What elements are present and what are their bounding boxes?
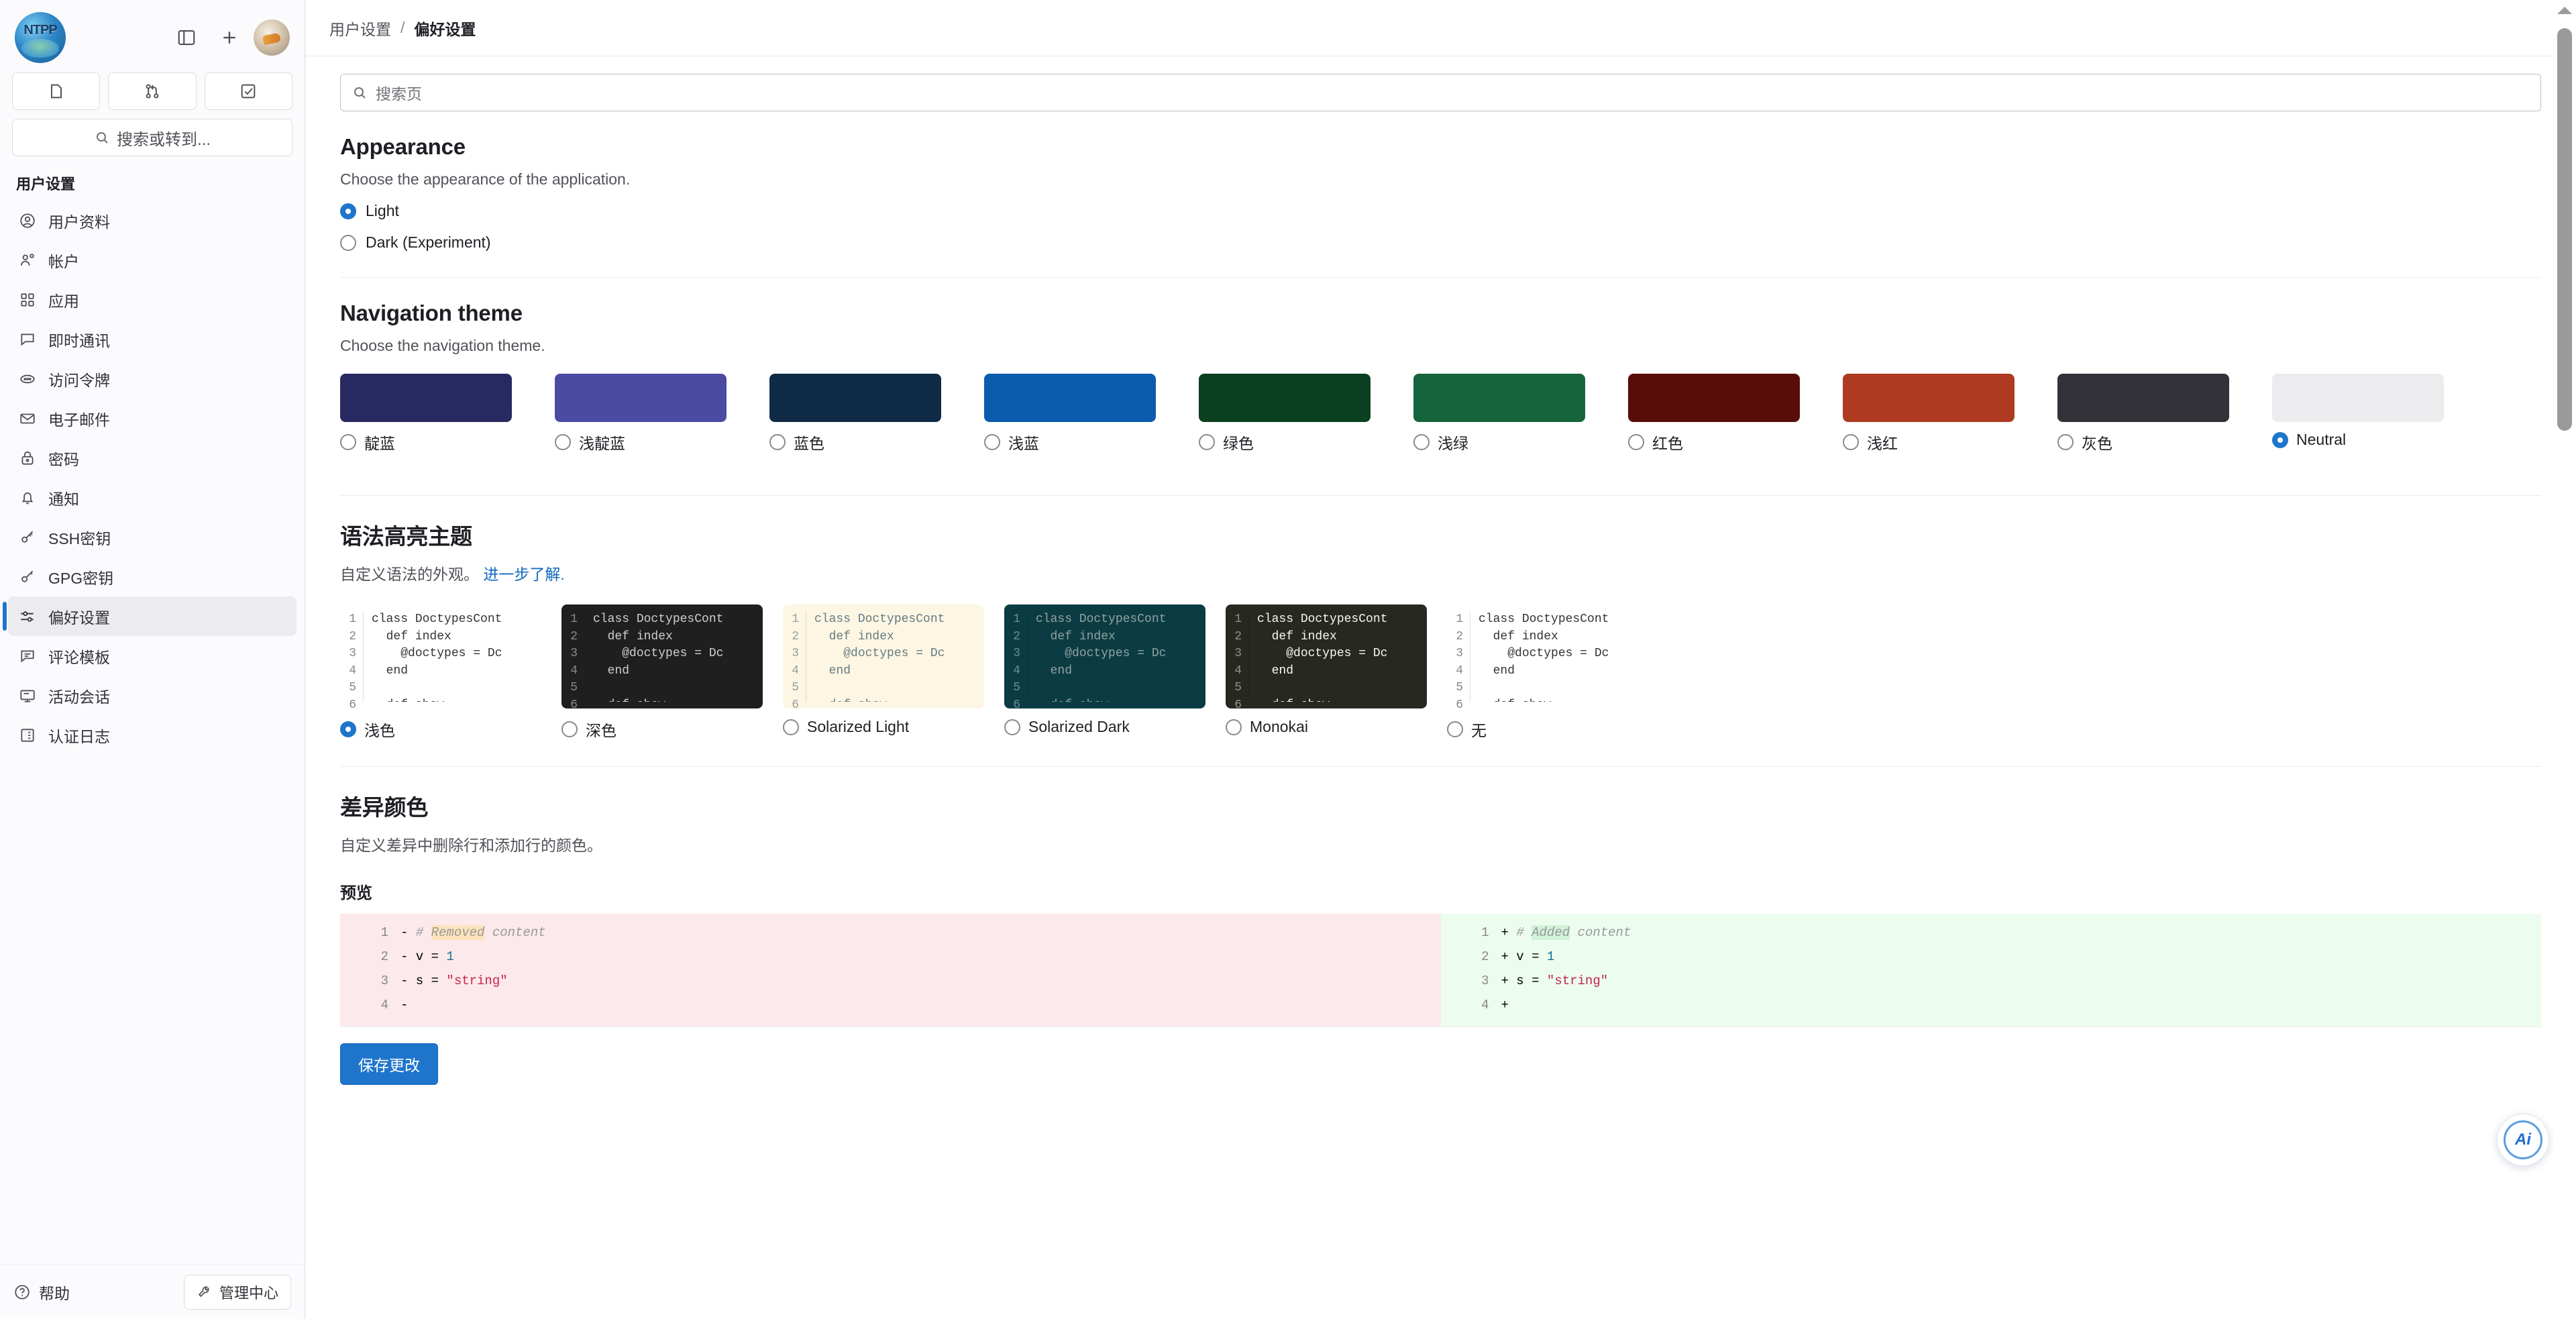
sidebar-item-label: 用户资料 [48, 209, 110, 232]
diff-line-text: - [400, 993, 416, 1017]
theme-color-swatch[interactable] [2057, 374, 2229, 422]
diff-line: 2- v = 1 [340, 945, 1441, 969]
radio-indicator [1226, 719, 1242, 735]
diff-line-text: + s = "string" [1501, 969, 1609, 993]
navigation-theme-grid: 靛蓝浅靛蓝蓝色浅蓝绿色浅绿红色浅红灰色Neutral [340, 374, 2541, 470]
theme-color-swatch[interactable] [555, 374, 727, 422]
syntax-option-label-row[interactable]: 无 [1447, 718, 1668, 741]
diff-line-number: 4 [1441, 993, 1501, 1017]
theme-option-label-row[interactable]: 靛蓝 [340, 431, 512, 454]
code-line-numbers: 123456 [1004, 611, 1027, 702]
diff-line-number: 4 [340, 993, 400, 1017]
key-icon [17, 527, 38, 547]
diff-line: 2+ v = 1 [1441, 945, 2542, 969]
appearance-option-label: Light [366, 202, 399, 220]
diff-line: 1- # Removed content [340, 920, 1441, 945]
radio-indicator [1628, 434, 1644, 450]
syntax-option-label: 浅色 [364, 718, 395, 741]
navigation-theme-option[interactable]: 红色 [1628, 374, 1800, 454]
ai-icon: Ai [2504, 1120, 2542, 1159]
vertical-scrollbar[interactable] [2553, 0, 2576, 1319]
navigation-theme-title: Navigation theme [340, 301, 2541, 326]
sidebar-header [0, 0, 305, 68]
navigation-theme-option[interactable]: Neutral [2272, 374, 2444, 454]
sidebar-item-emails[interactable]: 电子邮件 [8, 399, 297, 438]
syntax-theme-title: 语法高亮主题 [340, 519, 2541, 551]
theme-color-swatch[interactable] [984, 374, 1156, 422]
profile-icon [17, 211, 38, 231]
sidebar-item-ssh-keys[interactable]: SSH密钥 [8, 517, 297, 557]
radio-indicator [2057, 434, 2074, 450]
radio-indicator [1413, 434, 1430, 450]
diff-line-number: 3 [1441, 969, 1501, 993]
theme-option-label: 灰色 [2082, 431, 2112, 454]
diff-colors-description: 自定义差异中删除行和添加行的颜色。 [340, 833, 2541, 855]
code-line-numbers: 123456 [1226, 611, 1248, 702]
search-page-placeholder: 搜索页 [376, 81, 422, 104]
diff-line: 3- s = "string" [340, 969, 1441, 993]
sidebar-item-label: 活动会话 [48, 684, 110, 707]
search-icon [352, 85, 368, 101]
sidebar-quick-buttons [0, 68, 305, 110]
help-button[interactable]: 帮助 [13, 1281, 70, 1304]
sidebar-nav: 用户资料 帐户 应用 即 [0, 201, 305, 1265]
create-new-icon[interactable] [211, 19, 248, 56]
sidebar-section-title: 用户设置 [0, 156, 305, 201]
diff-line-number: 2 [340, 945, 400, 969]
syntax-option-label: Monokai [1250, 718, 1308, 736]
syntax-theme-section: 语法高亮主题 自定义语法的外观。 进一步了解. 123456class Doct… [340, 496, 2541, 767]
sidebar-item-label: 即时通讯 [48, 328, 110, 351]
theme-option-label-row[interactable]: 灰色 [2057, 431, 2229, 454]
diff-removed-pane: 1- # Removed content2- v = 13- s = "stri… [340, 914, 1441, 1026]
breadcrumb: 用户设置 / 偏好设置 [305, 0, 2576, 56]
scrollbar-thumb[interactable] [2557, 28, 2572, 431]
theme-option-label-row[interactable]: 绿色 [1199, 431, 1371, 454]
theme-option-label-row[interactable]: 浅蓝 [984, 431, 1156, 454]
navigation-theme-option[interactable]: 靛蓝 [340, 374, 512, 454]
syntax-theme-learn-more-link[interactable]: 进一步了解. [483, 566, 564, 583]
radio-indicator [340, 434, 356, 450]
radio-indicator [340, 235, 356, 251]
code-lines: class DoctypesCont def index @doctypes =… [1248, 611, 1427, 702]
code-line-numbers: 123456 [783, 611, 806, 702]
search-icon [94, 129, 110, 146]
code-lines: class DoctypesCont def index @doctypes =… [1470, 611, 1648, 702]
wrench-icon [197, 1284, 213, 1300]
appearance-title: Appearance [340, 134, 2541, 160]
user-avatar[interactable] [254, 19, 290, 56]
syntax-theme-option[interactable]: 123456class DoctypesCont def index @doct… [561, 604, 783, 741]
syntax-option-label-row[interactable]: 深色 [561, 718, 783, 741]
admin-area-label: 管理中心 [219, 1281, 278, 1303]
navigation-theme-option[interactable]: 绿色 [1199, 374, 1371, 454]
theme-color-swatch[interactable] [1843, 374, 2015, 422]
syntax-option-label-row[interactable]: Solarized Dark [1004, 718, 1226, 736]
account-icon [17, 250, 38, 270]
diff-line-text: - s = "string" [400, 969, 508, 993]
applications-icon [17, 290, 38, 310]
code-lines: class DoctypesCont def index @doctypes =… [363, 611, 541, 702]
syntax-theme-grid: 123456class DoctypesCont def index @doct… [340, 604, 2541, 741]
sidebar-item-label: 电子邮件 [48, 407, 110, 430]
radio-indicator [1004, 719, 1020, 735]
settings-content: 搜索页 Appearance Choose the appearance of … [305, 56, 2576, 1085]
syntax-theme-description: 自定义语法的外观。 进一步了解. [340, 562, 2541, 584]
key-icon [17, 567, 38, 587]
sidebar-footer: 帮助 管理中心 [0, 1265, 305, 1319]
code-line-numbers: 123456 [1447, 611, 1470, 702]
sidebar-item-label: 评论模板 [48, 645, 110, 668]
navigation-theme-section: Navigation theme Choose the navigation t… [340, 278, 2541, 496]
syntax-theme-option[interactable]: 123456class DoctypesCont def index @doct… [340, 604, 561, 741]
syntax-theme-option[interactable]: 123456class DoctypesCont def index @doct… [1226, 604, 1447, 741]
radio-indicator [783, 719, 799, 735]
theme-option-label-row[interactable]: Neutral [2272, 431, 2444, 449]
diff-line: 4- [340, 993, 1441, 1017]
syntax-theme-option[interactable]: 123456class DoctypesCont def index @doct… [1447, 604, 1668, 741]
diff-colors-section: 差异颜色 自定义差异中删除行和添加行的颜色。 预览 1- # Removed c… [340, 767, 2541, 1085]
diff-line: 4+ [1441, 993, 2542, 1017]
theme-color-swatch[interactable] [1199, 374, 1371, 422]
radio-indicator [984, 434, 1000, 450]
diff-line-number: 1 [340, 920, 400, 945]
code-lines: class DoctypesCont def index @doctypes =… [1027, 611, 1205, 702]
diff-line: 3+ s = "string" [1441, 969, 2542, 993]
scroll-up-arrow-icon[interactable] [2557, 7, 2572, 14]
radio-indicator [769, 434, 786, 450]
theme-option-label-row[interactable]: 浅红 [1843, 431, 2015, 454]
syntax-theme-option[interactable]: 123456class DoctypesCont def index @doct… [1004, 604, 1226, 741]
organization-logo-icon[interactable] [15, 12, 66, 63]
sidebar-item-authentication-log[interactable]: 认证日志 [8, 715, 297, 755]
search-or-goto-placeholder: 搜索或转到... [117, 126, 211, 150]
appearance-option-label: Dark (Experiment) [366, 233, 491, 252]
radio-indicator [1843, 434, 1859, 450]
code-line-numbers: 123456 [561, 611, 584, 702]
navigation-theme-option[interactable]: 蓝色 [769, 374, 941, 454]
help-icon [13, 1283, 31, 1301]
sidebar-item-label: 访问令牌 [48, 368, 110, 390]
sidebar-item-label: 偏好设置 [48, 605, 110, 628]
navigation-theme-description: Choose the navigation theme. [340, 337, 2541, 355]
code-line-numbers: 123456 [340, 611, 363, 702]
diff-line-number: 2 [1441, 945, 1501, 969]
appearance-option-dark[interactable]: Dark (Experiment) [340, 233, 2541, 252]
radio-indicator [340, 203, 356, 219]
theme-option-label: 红色 [1652, 431, 1683, 454]
theme-option-label: Neutral [2296, 431, 2346, 449]
theme-option-label: 浅绿 [1438, 431, 1468, 454]
lock-icon [17, 448, 38, 468]
code-preview: 123456class DoctypesCont def index @doct… [1226, 604, 1427, 708]
theme-option-label: 浅蓝 [1008, 431, 1039, 454]
sidebar: 搜索或转到... 用户设置 用户资料 帐户 [0, 0, 305, 1319]
syntax-option-label: Solarized Dark [1028, 718, 1130, 736]
appearance-description: Choose the appearance of the application… [340, 170, 2541, 189]
sidebar-item-preferences[interactable]: 偏好设置 [8, 596, 297, 636]
sidebar-item-access-tokens[interactable]: 访问令牌 [8, 359, 297, 399]
theme-option-label-row[interactable]: 蓝色 [769, 431, 941, 454]
code-lines: class DoctypesCont def index @doctypes =… [806, 611, 984, 702]
preferences-icon [17, 606, 38, 627]
theme-option-label: 靛蓝 [364, 431, 395, 454]
monitor-icon [17, 686, 38, 706]
diff-line-number: 1 [1441, 920, 1501, 945]
theme-option-label: 浅靛蓝 [579, 431, 625, 454]
sidebar-item-profile[interactable]: 用户资料 [8, 201, 297, 240]
radio-indicator [340, 721, 356, 737]
merge-requests-icon[interactable] [108, 72, 196, 110]
sidebar-item-label: 认证日志 [48, 724, 110, 747]
theme-option-label: 浅红 [1867, 431, 1898, 454]
sidebar-item-active-sessions[interactable]: 活动会话 [8, 676, 297, 715]
diff-line-text: - # Removed content [400, 920, 546, 945]
breadcrumb-current: 偏好设置 [414, 17, 476, 40]
ai-assistant-button[interactable]: Ai [2497, 1114, 2549, 1166]
diff-line-text: + [1501, 993, 1517, 1017]
theme-color-swatch[interactable] [769, 374, 941, 422]
help-label: 帮助 [39, 1281, 70, 1304]
sidebar-item-label: 应用 [48, 288, 79, 311]
theme-option-label-row[interactable]: 浅靛蓝 [555, 431, 727, 454]
navigation-theme-option[interactable]: 灰色 [2057, 374, 2229, 454]
breadcrumb-separator: / [400, 19, 405, 37]
sidebar-item-label: 通知 [48, 486, 79, 509]
theme-option-label: 绿色 [1223, 431, 1254, 454]
code-preview: 123456class DoctypesCont def index @doct… [561, 604, 763, 708]
sidebar-item-label: SSH密钥 [48, 526, 111, 549]
save-changes-button[interactable]: 保存更改 [340, 1043, 438, 1085]
search-or-goto-input[interactable]: 搜索或转到... [12, 119, 292, 156]
token-icon [17, 369, 38, 389]
theme-option-label-row[interactable]: 浅绿 [1413, 431, 1585, 454]
log-icon [17, 725, 38, 745]
chat-icon [17, 329, 38, 350]
admin-area-button[interactable]: 管理中心 [184, 1275, 291, 1310]
theme-color-swatch[interactable] [1413, 374, 1585, 422]
diff-colors-title: 差异颜色 [340, 790, 2541, 822]
code-preview: 123456class DoctypesCont def index @doct… [1447, 604, 1648, 708]
sidebar-item-chat[interactable]: 即时通讯 [8, 319, 297, 359]
sidebar-item-label: 帐户 [48, 249, 79, 272]
sidebar-item-applications[interactable]: 应用 [8, 280, 297, 319]
sidebar-item-password[interactable]: 密码 [8, 438, 297, 478]
theme-color-swatch[interactable] [340, 374, 512, 422]
navigation-theme-option[interactable]: 浅绿 [1413, 374, 1585, 454]
breadcrumb-parent[interactable]: 用户设置 [329, 17, 391, 40]
syntax-option-label-row[interactable]: 浅色 [340, 718, 561, 741]
code-preview: 123456class DoctypesCont def index @doct… [340, 604, 541, 708]
sidebar-item-notifications[interactable]: 通知 [8, 478, 297, 517]
syntax-option-label: 无 [1471, 718, 1487, 741]
syntax-theme-option[interactable]: 123456class DoctypesCont def index @doct… [783, 604, 1004, 741]
issues-icon[interactable] [12, 72, 100, 110]
search-page-input[interactable]: 搜索页 [340, 74, 2541, 111]
navigation-theme-option[interactable]: 浅靛蓝 [555, 374, 727, 454]
appearance-section: Appearance Choose the appearance of the … [340, 111, 2541, 278]
theme-color-swatch[interactable] [2272, 374, 2444, 422]
navigation-theme-option[interactable]: 浅蓝 [984, 374, 1156, 454]
main-content: 用户设置 / 偏好设置 搜索页 Appearance Choose the ap… [305, 0, 2576, 1319]
appearance-option-light[interactable]: Light [340, 202, 2541, 220]
code-preview: 123456class DoctypesCont def index @doct… [783, 604, 984, 708]
sidebar-item-label: 密码 [48, 447, 79, 470]
sidebar-top-actions [168, 19, 290, 56]
toggle-sidebar-icon[interactable] [168, 19, 205, 56]
navigation-theme-option[interactable]: 浅红 [1843, 374, 2015, 454]
diff-line: 1+ # Added content [1441, 920, 2542, 945]
theme-option-label: 蓝色 [794, 431, 824, 454]
syntax-option-label: Solarized Light [807, 718, 909, 736]
code-preview: 123456class DoctypesCont def index @doct… [1004, 604, 1205, 708]
diff-line-text: - v = 1 [400, 945, 454, 969]
comment-icon [17, 646, 38, 666]
radio-indicator [1199, 434, 1215, 450]
syntax-option-label: 深色 [586, 718, 616, 741]
sidebar-item-label: GPG密钥 [48, 566, 113, 588]
diff-preview-label: 预览 [340, 880, 2541, 903]
syntax-theme-desc-text: 自定义语法的外观。 [340, 566, 479, 583]
sidebar-item-account[interactable]: 帐户 [8, 240, 297, 280]
radio-indicator [2272, 432, 2288, 448]
diff-line-text: + # Added content [1501, 920, 1631, 945]
bell-icon [17, 488, 38, 508]
code-lines: class DoctypesCont def index @doctypes =… [584, 611, 763, 702]
sidebar-item-comment-templates[interactable]: 评论模板 [8, 636, 297, 676]
radio-indicator [555, 434, 571, 450]
sidebar-item-gpg-keys[interactable]: GPG密钥 [8, 557, 297, 596]
diff-line-number: 3 [340, 969, 400, 993]
diff-added-pane: 1+ # Added content2+ v = 13+ s = "string… [1441, 914, 2542, 1026]
radio-indicator [1447, 721, 1463, 737]
diff-preview: 1- # Removed content2- v = 13- s = "stri… [340, 914, 2541, 1027]
diff-line-text: + v = 1 [1501, 945, 1555, 969]
theme-color-swatch[interactable] [1628, 374, 1800, 422]
mail-icon [17, 409, 38, 429]
theme-option-label-row[interactable]: 红色 [1628, 431, 1800, 454]
radio-indicator [561, 721, 578, 737]
syntax-option-label-row[interactable]: Solarized Light [783, 718, 1004, 736]
syntax-option-label-row[interactable]: Monokai [1226, 718, 1447, 736]
todos-icon[interactable] [205, 72, 292, 110]
